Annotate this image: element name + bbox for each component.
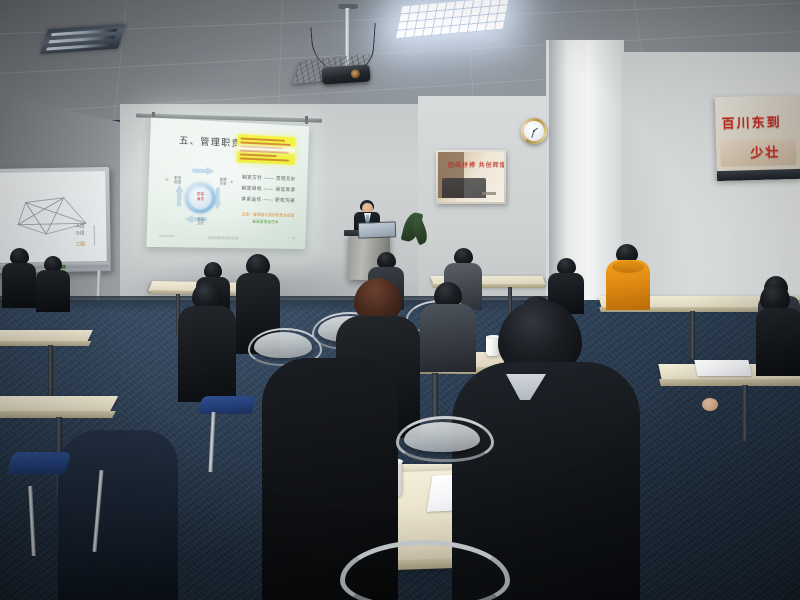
desk-edge [0, 341, 91, 346]
yellow-highlight-box [237, 134, 296, 164]
cycle-label-2b: 评审 [216, 181, 230, 186]
motivational-banner: 百川东到 少壮 [715, 95, 800, 181]
chair-back-panel [404, 422, 480, 452]
cycle-label-3b: 方针 [192, 221, 208, 225]
attendee-torso [756, 308, 800, 376]
desk [0, 396, 118, 412]
chair-back-panel [254, 332, 312, 358]
projector-lens [351, 69, 361, 79]
screen-bracket [305, 116, 308, 124]
banner-text-line-2: 少壮 [750, 141, 781, 161]
desk-leg [690, 311, 695, 359]
chair-seat [7, 452, 71, 474]
hoodie-hood [612, 261, 644, 273]
cycle-diagram: 顾客 满意 ① 职责 权限 ② 管理 评审 质量 方针 [164, 163, 237, 228]
slide-footer-date: 2013/12/11 [159, 235, 174, 238]
attendee-hand [702, 398, 718, 411]
cycle-ring: 顾客 满意 [185, 182, 216, 213]
attendee-left-3 [178, 282, 236, 402]
projection-screen: 五、管理职责 顾客 满意 ① 职责 权限 [146, 118, 309, 250]
cycle-center-label-2: 满意 [189, 197, 211, 202]
attendee-right-foreground [756, 284, 800, 376]
banner-text-line-1: 百川东到 [721, 111, 781, 132]
attendee-torso [36, 270, 70, 312]
wall-clock [521, 118, 547, 144]
poster-left-text: 团结拼搏 共创辉煌 [448, 160, 504, 169]
desk-edge [659, 379, 800, 386]
cycle-num-1: ① [165, 178, 168, 182]
clock-center-pin [533, 130, 536, 133]
attendee-torso [178, 306, 236, 402]
attendee-left-2 [36, 256, 70, 312]
presenter-laptop [358, 221, 397, 238]
svg-text:C组: C组 [76, 240, 85, 247]
paper-sheet [694, 360, 751, 376]
attendee-torso [2, 263, 36, 308]
attendee-torso [58, 430, 178, 600]
svg-text:B组: B组 [76, 229, 84, 236]
chair-seat [198, 396, 256, 414]
cycle-label-1b: 权限 [170, 180, 184, 185]
attendee-left-1 [2, 248, 36, 308]
desk-leg [742, 385, 748, 441]
cycle-num-2: ② [230, 180, 233, 184]
svg-text:A组: A组 [76, 222, 84, 229]
projector-body [321, 64, 370, 84]
slide-footer-page: 23 [292, 237, 295, 240]
slide-note-2: 最高管理者任命 [252, 220, 279, 226]
classroom-photo: 五、管理职责 顾客 满意 ① 职责 权限 [0, 0, 800, 600]
clock-face [524, 121, 544, 141]
projection-glare-band [237, 134, 296, 164]
framed-wall-poster: 团结拼搏 共创辉煌 [436, 150, 506, 204]
slide-footer-center: 质量管理体系内审员培训 [208, 236, 239, 241]
attendee-front-far-left [58, 430, 178, 600]
desk-leg [48, 345, 53, 403]
